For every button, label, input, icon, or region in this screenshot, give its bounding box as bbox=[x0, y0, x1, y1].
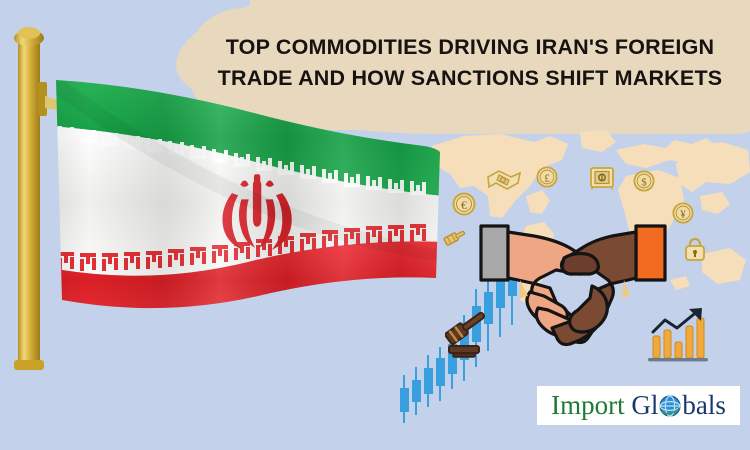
title-line-1: TOP COMMODITIES DRIVING IRAN'S FOREIGN bbox=[205, 32, 735, 63]
logo-word-bals: bals bbox=[682, 390, 726, 420]
dollar-coin-icon: $ bbox=[633, 170, 655, 192]
growth-bar-chart-icon bbox=[645, 308, 711, 366]
gavel-wood-icon bbox=[445, 312, 501, 360]
logo-word-import: Import bbox=[551, 390, 625, 420]
euro-coin-icon: € bbox=[452, 192, 476, 216]
import-globals-logo[interactable]: Import Gl bals bbox=[537, 386, 740, 425]
pound-coin-icon: £ bbox=[536, 166, 558, 188]
handshake-graphic bbox=[478, 222, 668, 354]
page-title: TOP COMMODITIES DRIVING IRAN'S FOREIGN T… bbox=[205, 32, 735, 94]
svg-text:¥: ¥ bbox=[680, 209, 686, 221]
cash-money-icon bbox=[487, 168, 521, 194]
gavel-gold-icon bbox=[440, 230, 468, 252]
yen-coin-icon: ¥ bbox=[672, 202, 694, 224]
svg-text:£: £ bbox=[544, 173, 550, 185]
svg-text:$: $ bbox=[641, 177, 647, 189]
logo-word-gl: Gl bbox=[631, 390, 658, 420]
globe-icon bbox=[658, 394, 682, 418]
svg-text:€: € bbox=[461, 198, 467, 212]
padlock-coin-icon bbox=[683, 236, 707, 262]
safe-vault-icon bbox=[589, 166, 615, 190]
banner-canvas: € £ $ ¥ bbox=[0, 0, 750, 450]
logo-text: Import Gl bals bbox=[551, 392, 726, 419]
title-line-2: TRADE AND HOW SANCTIONS SHIFT MARKETS bbox=[205, 63, 735, 94]
